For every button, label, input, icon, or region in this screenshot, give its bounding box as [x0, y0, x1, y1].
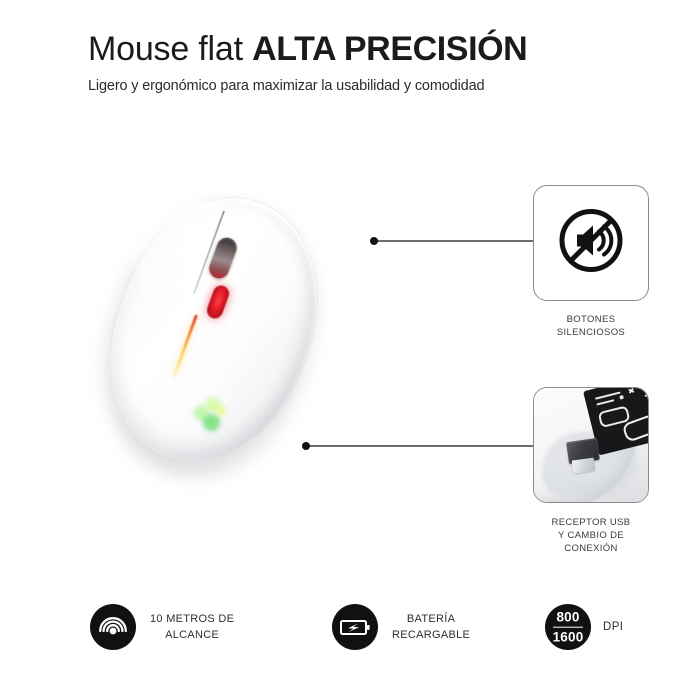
leader-line-silent-buttons	[373, 240, 535, 242]
label-arc-mark	[638, 392, 649, 415]
product-image-mouse	[95, 175, 345, 505]
range-badge	[90, 604, 136, 650]
dpi-value-bottom: 1600	[545, 629, 591, 644]
callout-caption-usb-receiver: RECEPTOR USB Y CAMBIO DE CONEXIÓN	[529, 516, 653, 555]
mute-speaker-icon	[555, 205, 627, 282]
title-light-part: Mouse flat	[88, 30, 252, 68]
leader-dot-icon	[302, 442, 310, 450]
product-infographic: Mouse flat ALTA PRECISIÓN Ligero y ergon…	[0, 0, 700, 700]
label-text-mark	[596, 399, 614, 405]
dpi-divider	[553, 626, 583, 628]
usb-receiver-photo	[534, 388, 648, 502]
feature-dpi: 800 1600 DPI	[545, 604, 623, 650]
dpi-badge: 800 1600	[545, 604, 591, 650]
wireless-signal-icon	[98, 612, 128, 642]
label-text-mark	[595, 391, 621, 399]
feature-battery: BATERÍA RECARGABLE	[332, 604, 470, 650]
header: Mouse flat ALTA PRECISIÓN Ligero y ergon…	[88, 28, 648, 96]
page-title: Mouse flat ALTA PRECISIÓN	[88, 28, 648, 70]
callout-card-silent-buttons	[533, 185, 649, 301]
caption-line: SILENCIOSOS	[531, 326, 651, 339]
caption-line: CONEXIÓN	[529, 542, 653, 555]
logo-blob-icon	[214, 404, 227, 417]
title-bold-part: ALTA PRECISIÓN	[252, 30, 527, 68]
leader-dot-icon	[370, 237, 378, 245]
caption-line: RECEPTOR USB	[529, 516, 653, 529]
callout-caption-silent-buttons: BOTONES SILENCIOSOS	[531, 313, 651, 339]
label-dot-mark	[619, 395, 624, 400]
caption-line: BOTONES	[531, 313, 651, 326]
usb-nano-receiver	[566, 438, 601, 472]
battery-charging-icon	[339, 615, 371, 639]
dpi-values: 800 1600	[545, 610, 591, 645]
page-subtitle: Ligero y ergonómico para maximizar la us…	[88, 76, 648, 96]
range-label: 10 METROS DE ALCANCE	[150, 611, 234, 643]
rgb-logo-glow	[191, 397, 231, 437]
feature-range: 10 METROS DE ALCANCE	[90, 604, 234, 650]
battery-label: BATERÍA RECARGABLE	[392, 611, 470, 643]
leader-line-usb-receiver	[305, 445, 535, 447]
callout-card-usb-receiver	[533, 387, 649, 503]
caption-line: Y CAMBIO DE	[529, 529, 653, 542]
battery-badge	[332, 604, 378, 650]
dpi-label: DPI	[603, 621, 623, 633]
dpi-value-top: 800	[545, 610, 591, 625]
